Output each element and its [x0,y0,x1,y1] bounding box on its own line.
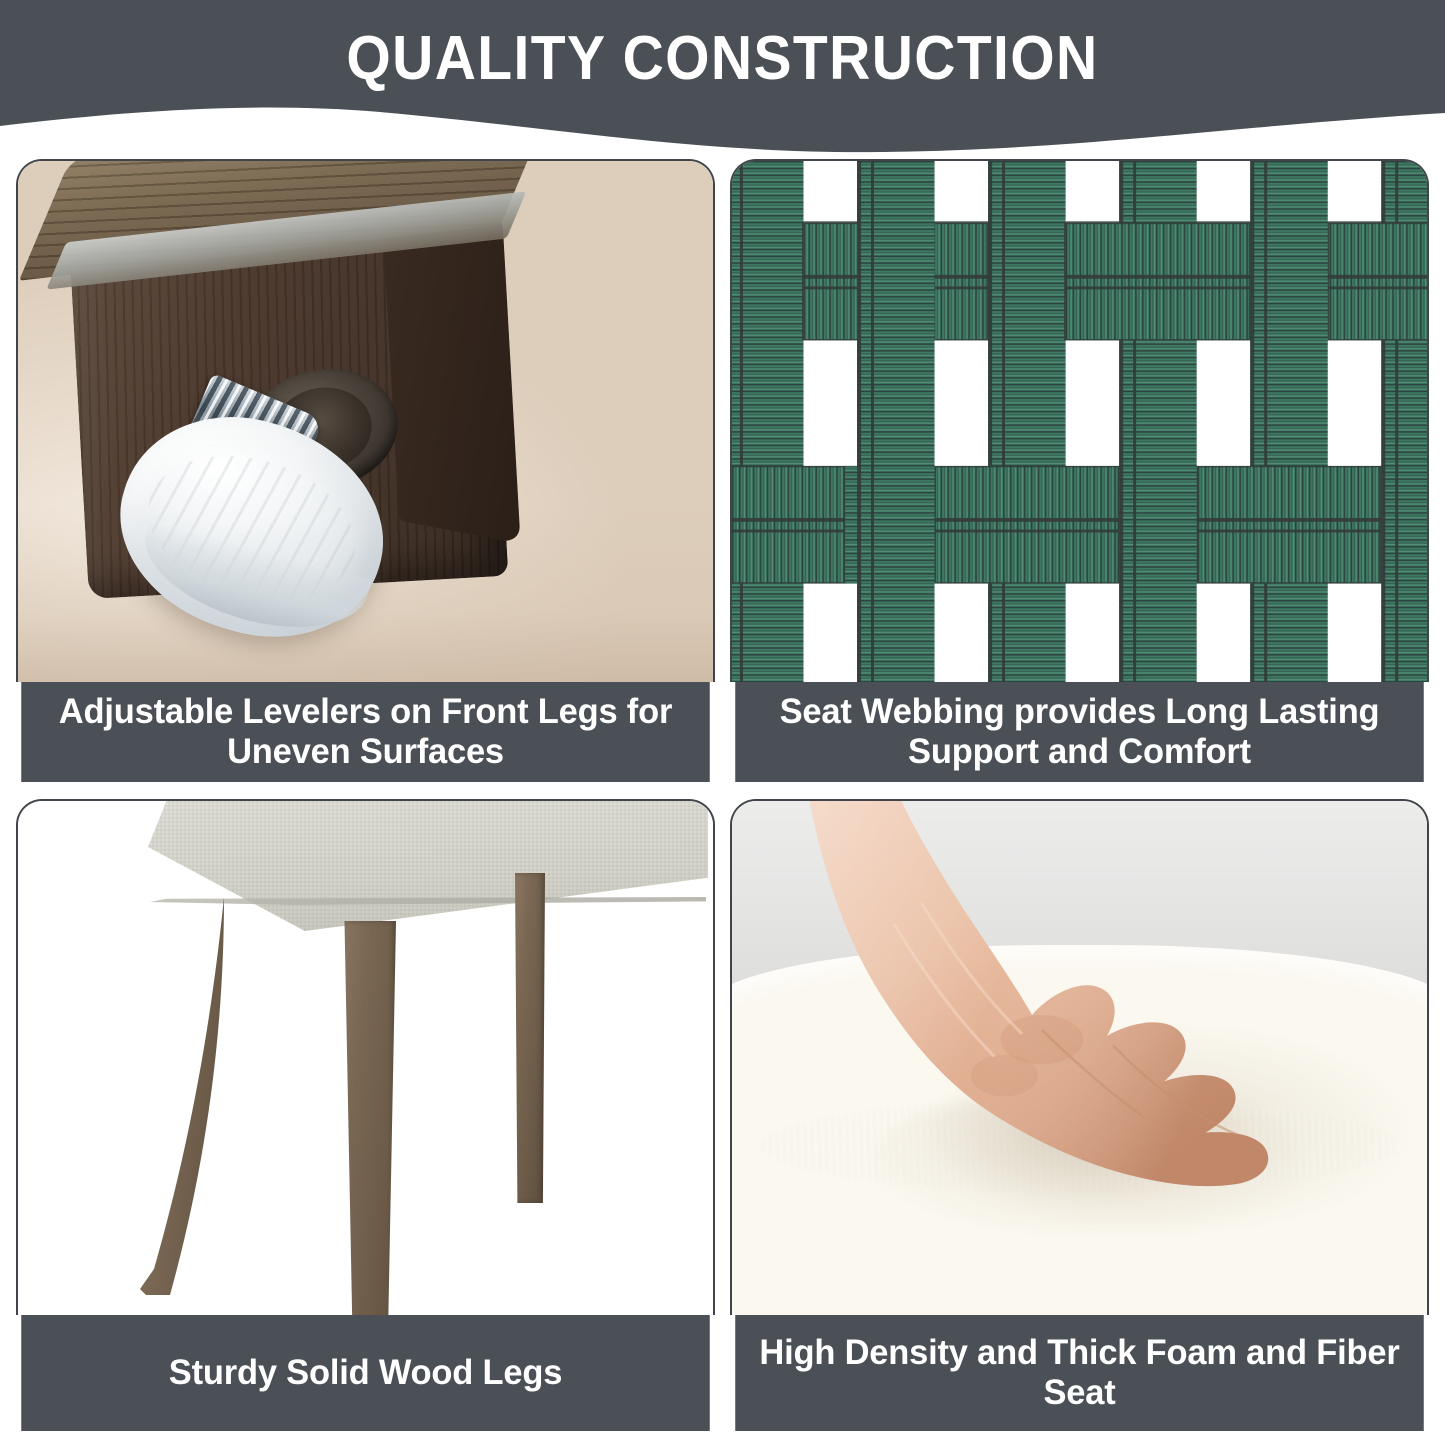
leveler-photo [16,159,715,682]
feature-card-seat-webbing[interactable]: Seat Webbing provides Long Lasting Suppo… [730,159,1429,782]
foam-photo [730,799,1429,1315]
hand-svg [746,801,1358,1284]
chair-legs-icon [18,801,713,1315]
infographic-page: QUALITY CONSTRUCTION [0,0,1445,1445]
caption-high-density-foam: High Density and Thick Foam and Fiber Se… [735,1315,1424,1431]
chair-leg-left [140,897,224,1297]
caption-seat-webbing: Seat Webbing provides Long Lasting Suppo… [735,682,1424,782]
feature-grid: Adjustable Levelers on Front Legs for Un… [16,159,1429,1431]
upholstered-seat [148,799,708,931]
caption-solid-wood-legs: Sturdy Solid Wood Legs [21,1315,710,1431]
leveler-image-scene [18,161,713,682]
webbing-svg [732,161,1427,682]
page-title: QUALITY CONSTRUCTION [58,26,1387,91]
seat-welt-trim [150,897,706,905]
chair-leg-right [515,873,545,1203]
webbing-weave-icon [732,161,1427,682]
header-banner: QUALITY CONSTRUCTION [0,0,1445,165]
webbing-photo [730,159,1429,682]
feature-card-high-density-foam[interactable]: High Density and Thick Foam and Fiber Se… [730,799,1429,1431]
chair-leg-center [340,921,396,1315]
feature-card-solid-wood-legs[interactable]: Sturdy Solid Wood Legs [16,799,715,1431]
wooden-leg-block [25,159,570,609]
feature-card-adjustable-levelers[interactable]: Adjustable Levelers on Front Legs for Un… [16,159,715,782]
wood-legs-photo [16,799,715,1315]
hand-press-foam-icon [732,801,1427,1315]
pressing-hand [746,801,1358,1284]
caption-adjustable-levelers: Adjustable Levelers on Front Legs for Un… [21,682,710,782]
